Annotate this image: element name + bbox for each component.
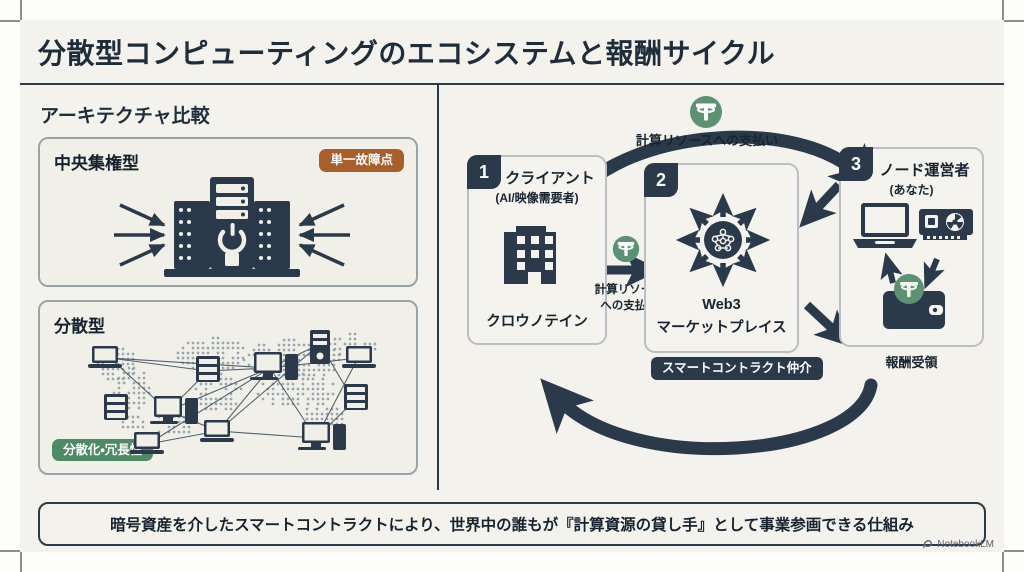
top-payment-caption: 計算リソースへの支払い <box>617 133 797 149</box>
world-network-map-icon <box>58 316 408 466</box>
smart-contract-badge: スマートコントラクト仲介 <box>651 357 823 380</box>
tether-coin-icon <box>689 95 723 129</box>
node-operator-title: ノード運営者 <box>841 159 982 180</box>
notebooklm-label: NotebookLM <box>937 539 994 550</box>
poster-header: 分散型コンピューティングのエコシステムと報酬サイクル <box>20 20 1004 85</box>
client-subtitle: (AI/映像需要者) <box>469 189 605 206</box>
architecture-comparison-panel: アーキテクチャ比較 中央集権型 単一故障点 <box>20 85 437 490</box>
server-rack-icon <box>112 169 352 284</box>
network-hub-icon <box>663 185 783 295</box>
marketplace-title-line1: Web3 <box>646 297 797 313</box>
laptop-gpu-wallet-icon <box>847 197 982 337</box>
marketplace-title-line2: マーケットプレイス <box>646 316 797 337</box>
node-box-marketplace: 2 <box>644 163 799 353</box>
node-box-node-operator: 3 ノード運営者 (あなた) <box>839 147 984 347</box>
node-box-client: 1 クライアント (AI/映像需要者) クロウノテイン <box>467 155 607 345</box>
notebooklm-logo-icon <box>922 539 933 550</box>
summary-text: 暗号資産を介したスマートコントラクトにより、世界中の誰もが『計算資源の貸し手』と… <box>110 513 914 535</box>
office-building-icon <box>504 212 574 292</box>
poster-body: 分散型コンピューティングのエコシステムと報酬サイクル アーキテクチャ比較 中央集… <box>20 20 1004 552</box>
distributed-architecture-card: 分散型 分散化・冗長性 <box>38 300 418 475</box>
client-title: クライアント <box>469 167 605 188</box>
reward-received-caption: 報酬受領 <box>839 355 984 371</box>
page-title: 分散型コンピューティングのエコシステムと報酬サイクル <box>38 32 775 72</box>
centralized-architecture-card: 中央集権型 単一故障点 <box>38 137 418 287</box>
node-operator-subtitle: (あなた) <box>841 181 982 198</box>
infographic-canvas: 分散型コンピューティングのエコシステムと報酬サイクル アーキテクチャ比較 中央集… <box>0 0 1024 572</box>
notebooklm-watermark: NotebookLM <box>922 539 994 550</box>
section-title-architecture: アーキテクチャ比較 <box>40 101 210 128</box>
summary-banner: 暗号資産を介したスマートコントラクトにより、世界中の誰もが『計算資源の貸し手』と… <box>38 502 986 546</box>
tether-coin-icon-small <box>612 235 640 263</box>
reward-cycle-panel: 計算リソースへの支払い 1 クライアント (AI/映像需要者) <box>439 85 1004 490</box>
